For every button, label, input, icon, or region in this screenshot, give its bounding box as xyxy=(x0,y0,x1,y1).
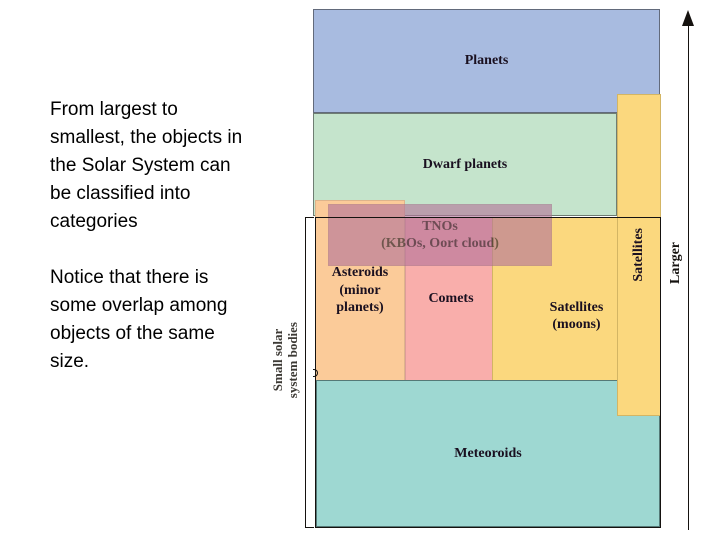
size-axis-label: Larger xyxy=(666,228,686,298)
ssb-label-text: Small solar system bodies xyxy=(271,322,301,398)
small-solar-system-bodies-label: Small solar system bodies xyxy=(266,290,306,430)
category-box-planets: Planets xyxy=(313,9,660,113)
ssb-label-line-2: system bodies xyxy=(285,322,300,398)
size-axis-label-text: Larger xyxy=(668,242,684,284)
size-axis-line xyxy=(688,22,689,530)
ssb-label-line-1: Small solar xyxy=(270,329,285,391)
small-solar-system-bodies-frame xyxy=(315,217,661,528)
category-label-planets: Planets xyxy=(465,52,509,70)
category-label-dwarf-planets: Dwarf planets xyxy=(423,156,507,174)
solar-system-size-classification-diagram: Planets Dwarf planets Satellites Small s… xyxy=(0,0,720,540)
small-solar-system-bodies-brace xyxy=(305,217,314,528)
